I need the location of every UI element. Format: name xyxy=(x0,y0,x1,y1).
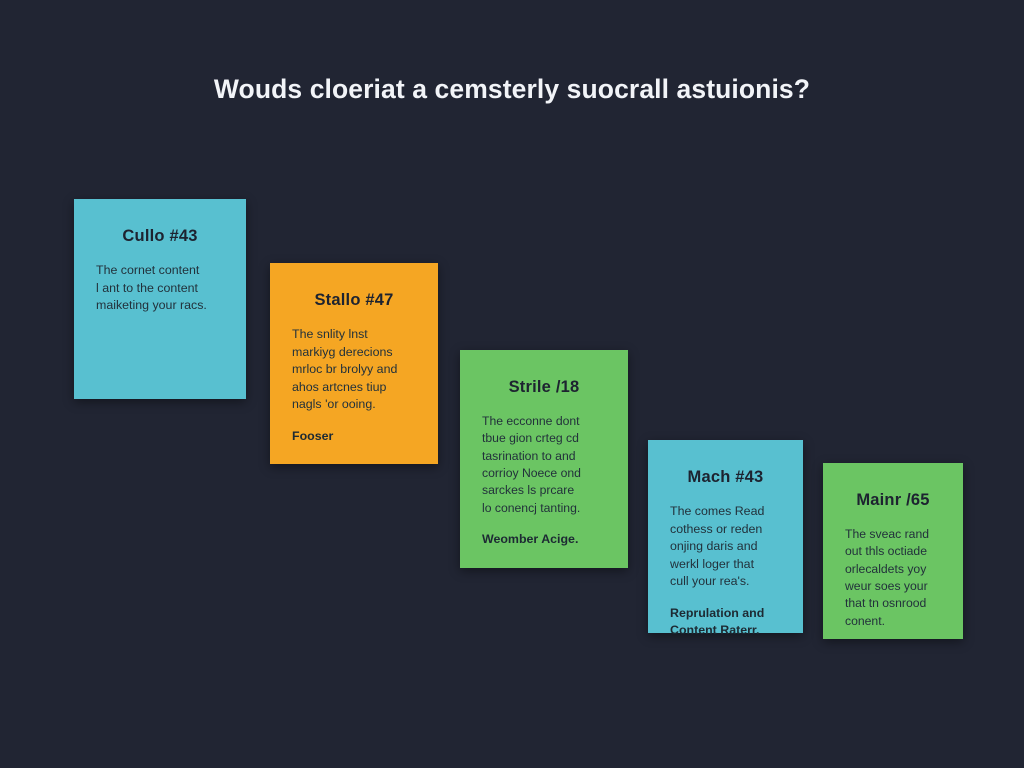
card-mainr[interactable]: Mainr /65 The sveac rand out thls octiad… xyxy=(823,463,963,639)
card-title: Cullo #43 xyxy=(96,227,224,246)
card-body: The cornet content l ant to the content … xyxy=(96,262,224,315)
card-strile[interactable]: Strile /18 The ecconne dont tbue gion cr… xyxy=(460,350,628,568)
page-title: Wouds cloeriat a cemsterly suocrall astu… xyxy=(0,74,1024,105)
card-stallo[interactable]: Stallo #47 The snlity lnst markiyg derec… xyxy=(270,263,438,464)
card-title: Mainr /65 xyxy=(845,491,941,510)
card-title: Mach #43 xyxy=(670,468,781,487)
card-title: Stallo #47 xyxy=(292,291,416,310)
card-mach[interactable]: Mach #43 The comes Read cothess or reden… xyxy=(648,440,803,633)
card-footer: Reprulation and Content Raterr. xyxy=(670,591,781,638)
card-footer: Weomber Acige. xyxy=(482,517,606,548)
card-body: The sveac rand out thls octiade orlecald… xyxy=(845,526,941,630)
card-title: Strile /18 xyxy=(482,378,606,397)
card-body: The comes Read cothess or reden onjing d… xyxy=(670,503,781,591)
card-footer: Fooser xyxy=(292,414,416,445)
card-body: The snlity lnst markiyg derecions mrloc … xyxy=(292,326,416,414)
card-body: The ecconne dont tbue gion crteg cd tasr… xyxy=(482,413,606,517)
card-cullo[interactable]: Cullo #43 The cornet content l ant to th… xyxy=(74,199,246,399)
slide-canvas: Wouds cloeriat a cemsterly suocrall astu… xyxy=(0,0,1024,768)
